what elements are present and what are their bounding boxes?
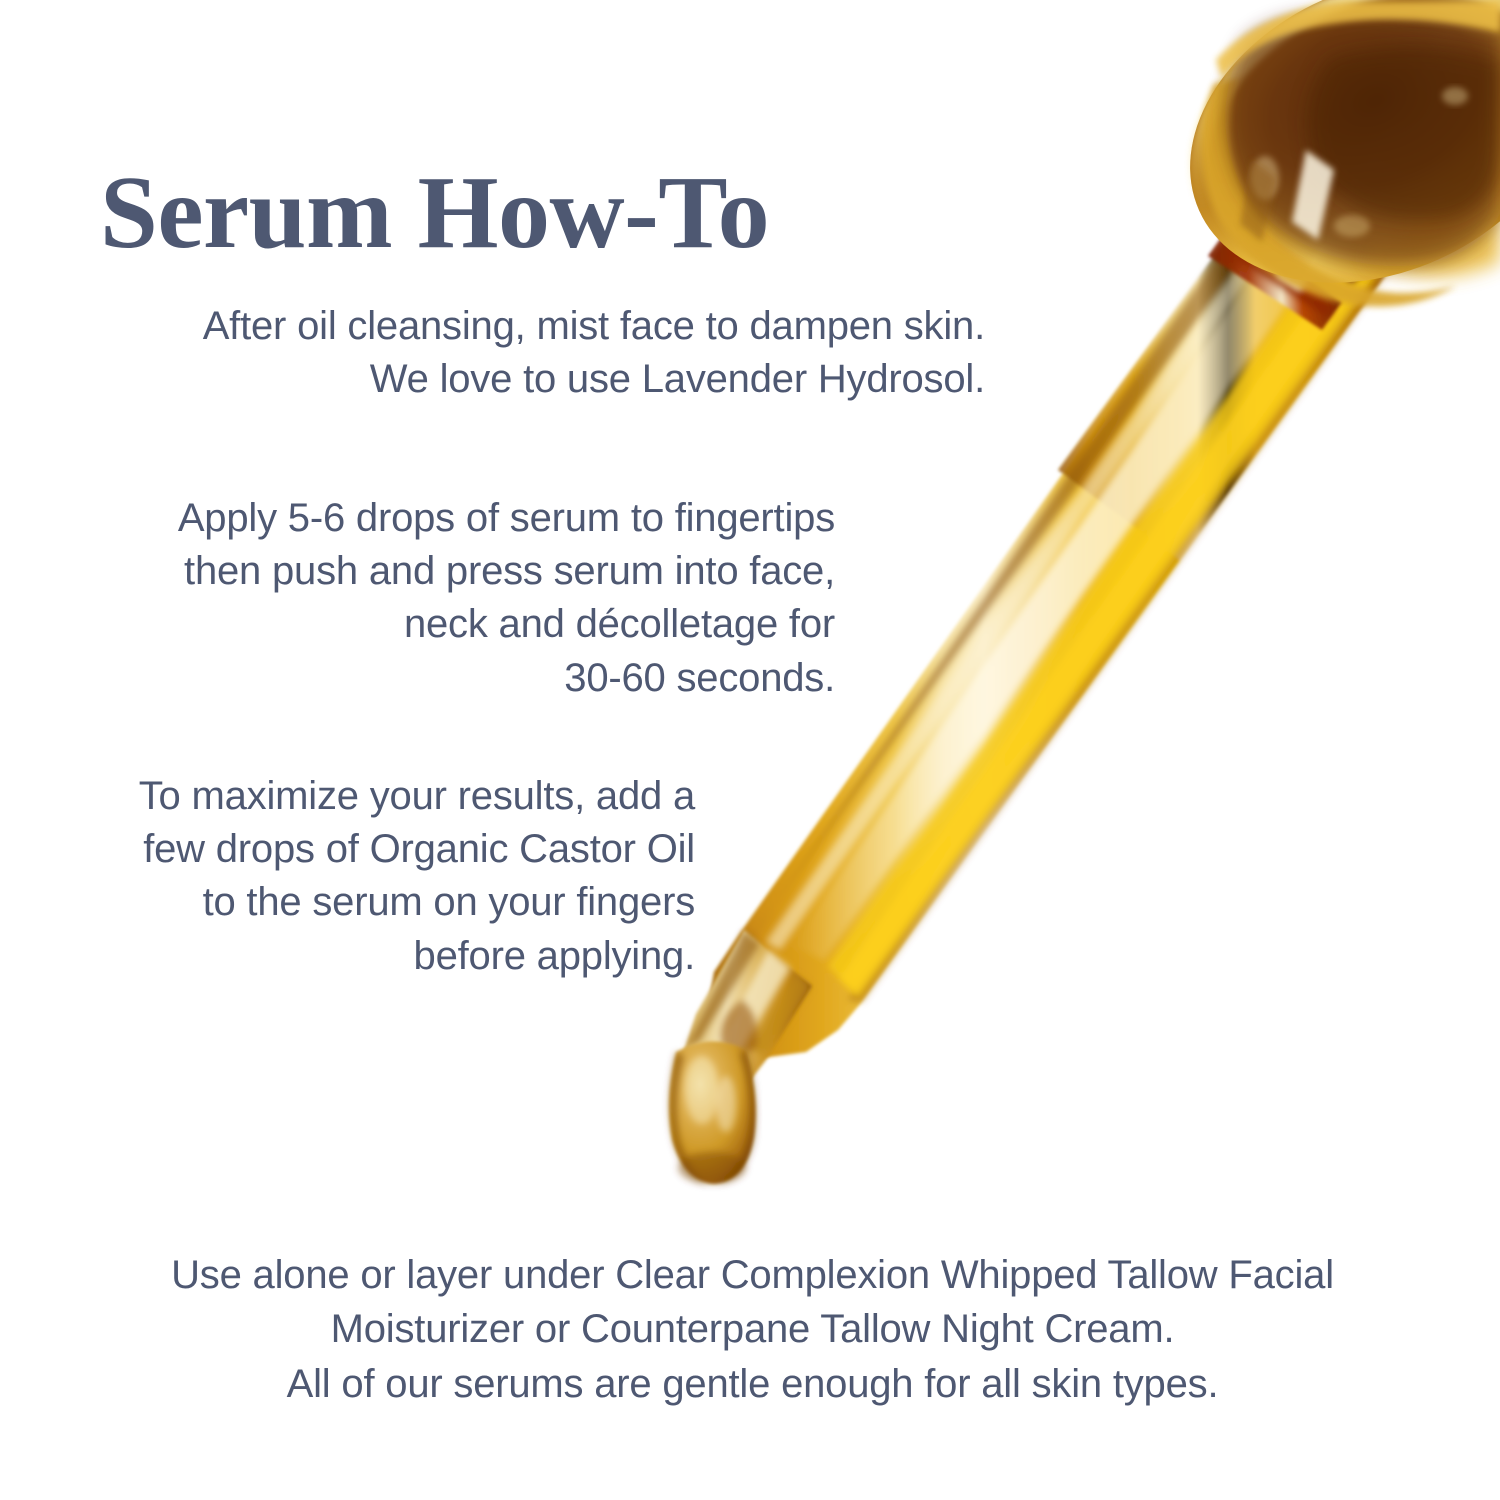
pipette-collar-band [1208, 228, 1342, 330]
instruction-step-2: Apply 5-6 drops of serum to fingertips t… [45, 492, 835, 705]
footer-line-3: All of our serums are gentle enough for … [60, 1357, 1445, 1411]
gold-dropper-cap [1141, 0, 1500, 340]
pipette-tip [684, 930, 812, 1094]
step-2-line-4: 30-60 seconds. [45, 652, 835, 705]
instruction-step-1: After oil cleansing, mist face to dampen… [45, 300, 985, 406]
footer-line-2: Moisturizer or Counterpane Tallow Night … [60, 1302, 1445, 1356]
step-2-line-3: neck and décolletage for [45, 598, 835, 651]
footer-note: Use alone or layer under Clear Complexio… [60, 1248, 1445, 1411]
step-3-line-1: To maximize your results, add a [45, 770, 695, 823]
oil-droplet [669, 1041, 756, 1184]
step-3-line-4: before applying. [45, 930, 695, 983]
step-1-line-2: We love to use Lavender Hydrosol. [45, 353, 985, 406]
step-2-line-2: then push and press serum into face, [45, 545, 835, 598]
poster-canvas: Serum How-To After oil cleansing, mist f… [0, 0, 1500, 1500]
step-2-line-1: Apply 5-6 drops of serum to fingertips [45, 492, 835, 545]
step-1-line-1: After oil cleansing, mist face to dampen… [45, 300, 985, 353]
footer-line-1: Use alone or layer under Clear Complexio… [60, 1248, 1445, 1302]
page-title: Serum How-To [100, 158, 769, 267]
instruction-step-3: To maximize your results, add a few drop… [45, 770, 695, 983]
step-3-line-3: to the serum on your fingers [45, 876, 695, 929]
step-3-line-2: few drops of Organic Castor Oil [45, 823, 695, 876]
